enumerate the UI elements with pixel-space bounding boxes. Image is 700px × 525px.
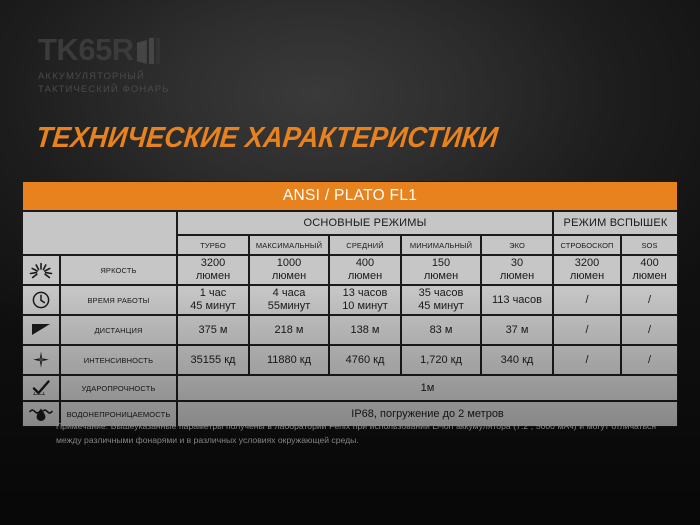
column-header-strobe: СТРОБОСКОП	[553, 235, 621, 255]
cell-brightness-mid: 400люмен	[329, 255, 401, 285]
cell-distance-eco: 37 м	[481, 315, 553, 345]
cell-intensity-strobe: /	[553, 345, 621, 375]
row-label-brightness: ЯРКОСТЬ	[60, 255, 177, 285]
table-row: УДАРОПРОЧНОСТЬ 1м	[22, 375, 678, 401]
cell-impact-resistance-value: 1м	[177, 375, 678, 401]
cell-runtime-min: 35 часов45 минут	[401, 285, 481, 315]
cell-brightness-sos: 400люмен	[621, 255, 678, 285]
column-header-eco: ЭКО	[481, 235, 553, 255]
row-label-impact-resistance: УДАРОПРОЧНОСТЬ	[60, 375, 177, 401]
cell-brightness-min: 150люмен	[401, 255, 481, 285]
cell-intensity-min: 1,720 кд	[401, 345, 481, 375]
brand-subtitle-line2: ТАКТИЧЕСКИЙ ФОНАРЬ	[38, 84, 170, 97]
cell-distance-turbo: 375 м	[177, 315, 249, 345]
cell-brightness-eco: 30люмен	[481, 255, 553, 285]
brand-subtitle-line1: АККУМУЛЯТОРНЫЙ	[38, 71, 170, 84]
ansi-plato-banner: ANSI / PLATO FL1	[22, 181, 678, 211]
cell-intensity-sos: /	[621, 345, 678, 375]
column-header-mid: СРЕДНИЙ	[329, 235, 401, 255]
cell-brightness-max: 1000люмен	[249, 255, 329, 285]
flashlight-beam-icon	[135, 38, 160, 64]
footnote-text: Примечание. Вышеуказанные параметры полу…	[56, 420, 656, 448]
cell-runtime-eco: 113 часов	[481, 285, 553, 315]
beam-distance-icon	[22, 315, 60, 345]
column-header-sos: SOS	[621, 235, 678, 255]
table-banner-row: ANSI / PLATO FL1	[22, 181, 678, 211]
header-corner-blank	[22, 211, 177, 255]
water-resistance-icon	[22, 401, 60, 427]
row-label-distance: ДИСТАНЦИЯ	[60, 315, 177, 345]
table-row: ДИСТАНЦИЯ 375 м 218 м 138 м 83 м 37 м / …	[22, 315, 678, 345]
cell-brightness-strobe: 3200люмен	[553, 255, 621, 285]
column-header-min: МИНИМАЛЬНЫЙ	[401, 235, 481, 255]
column-header-max: МАКСИМАЛЬНЫЙ	[249, 235, 329, 255]
cell-runtime-mid: 13 часов10 минут	[329, 285, 401, 315]
cell-distance-min: 83 м	[401, 315, 481, 345]
cell-intensity-turbo: 35155 кд	[177, 345, 249, 375]
cell-distance-mid: 138 м	[329, 315, 401, 345]
cell-runtime-sos: /	[621, 285, 678, 315]
cell-brightness-turbo: 3200люмен	[177, 255, 249, 285]
cell-intensity-eco: 340 кд	[481, 345, 553, 375]
group-header-flash-modes: РЕЖИМ ВСПЫШЕК	[553, 211, 678, 235]
cell-runtime-turbo: 1 час45 минут	[177, 285, 249, 315]
light-burst-icon	[22, 255, 60, 285]
specifications-table: ANSI / PLATO FL1 ОСНОВНЫЕ РЕЖИМЫ РЕЖИМ В…	[22, 181, 678, 427]
group-header-row: ОСНОВНЫЕ РЕЖИМЫ РЕЖИМ ВСПЫШЕК	[22, 211, 678, 235]
group-header-main-modes: ОСНОВНЫЕ РЕЖИМЫ	[177, 211, 553, 235]
spec-sheet-page: TK65R АККУМУЛЯТОРНЫЙ ТАКТИЧЕСКИЙ ФОНАРЬ …	[0, 0, 700, 525]
column-header-turbo: ТУРБО	[177, 235, 249, 255]
cell-runtime-max: 4 часа55минут	[249, 285, 329, 315]
table-row: ИНТЕНСИВНОСТЬ 35155 кд 11880 кд 4760 кд …	[22, 345, 678, 375]
brand-name-row: TK65R	[38, 34, 170, 65]
brand-subtitle: АККУМУЛЯТОРНЫЙ ТАКТИЧЕСКИЙ ФОНАРЬ	[38, 71, 170, 97]
clock-icon	[22, 285, 60, 315]
impact-resistance-icon	[22, 375, 60, 401]
table-row: ЯРКОСТЬ 3200люмен 1000люмен 400люмен 150…	[22, 255, 678, 285]
intensity-star-icon	[22, 345, 60, 375]
cell-distance-strobe: /	[553, 315, 621, 345]
cell-intensity-mid: 4760 кд	[329, 345, 401, 375]
brand-block: TK65R АККУМУЛЯТОРНЫЙ ТАКТИЧЕСКИЙ ФОНАРЬ	[38, 34, 170, 97]
table-row: ВРЕМЯ РАБОТЫ 1 час45 минут 4 часа55минут…	[22, 285, 678, 315]
row-label-intensity: ИНТЕНСИВНОСТЬ	[60, 345, 177, 375]
cell-distance-sos: /	[621, 315, 678, 345]
product-model-name: TK65R	[38, 34, 134, 65]
cell-intensity-max: 11880 кд	[249, 345, 329, 375]
page-title: ТЕХНИЧЕСКИЕ ХАРАКТЕРИСТИКИ	[34, 122, 499, 155]
cell-runtime-strobe: /	[553, 285, 621, 315]
row-label-runtime: ВРЕМЯ РАБОТЫ	[60, 285, 177, 315]
cell-distance-max: 218 м	[249, 315, 329, 345]
